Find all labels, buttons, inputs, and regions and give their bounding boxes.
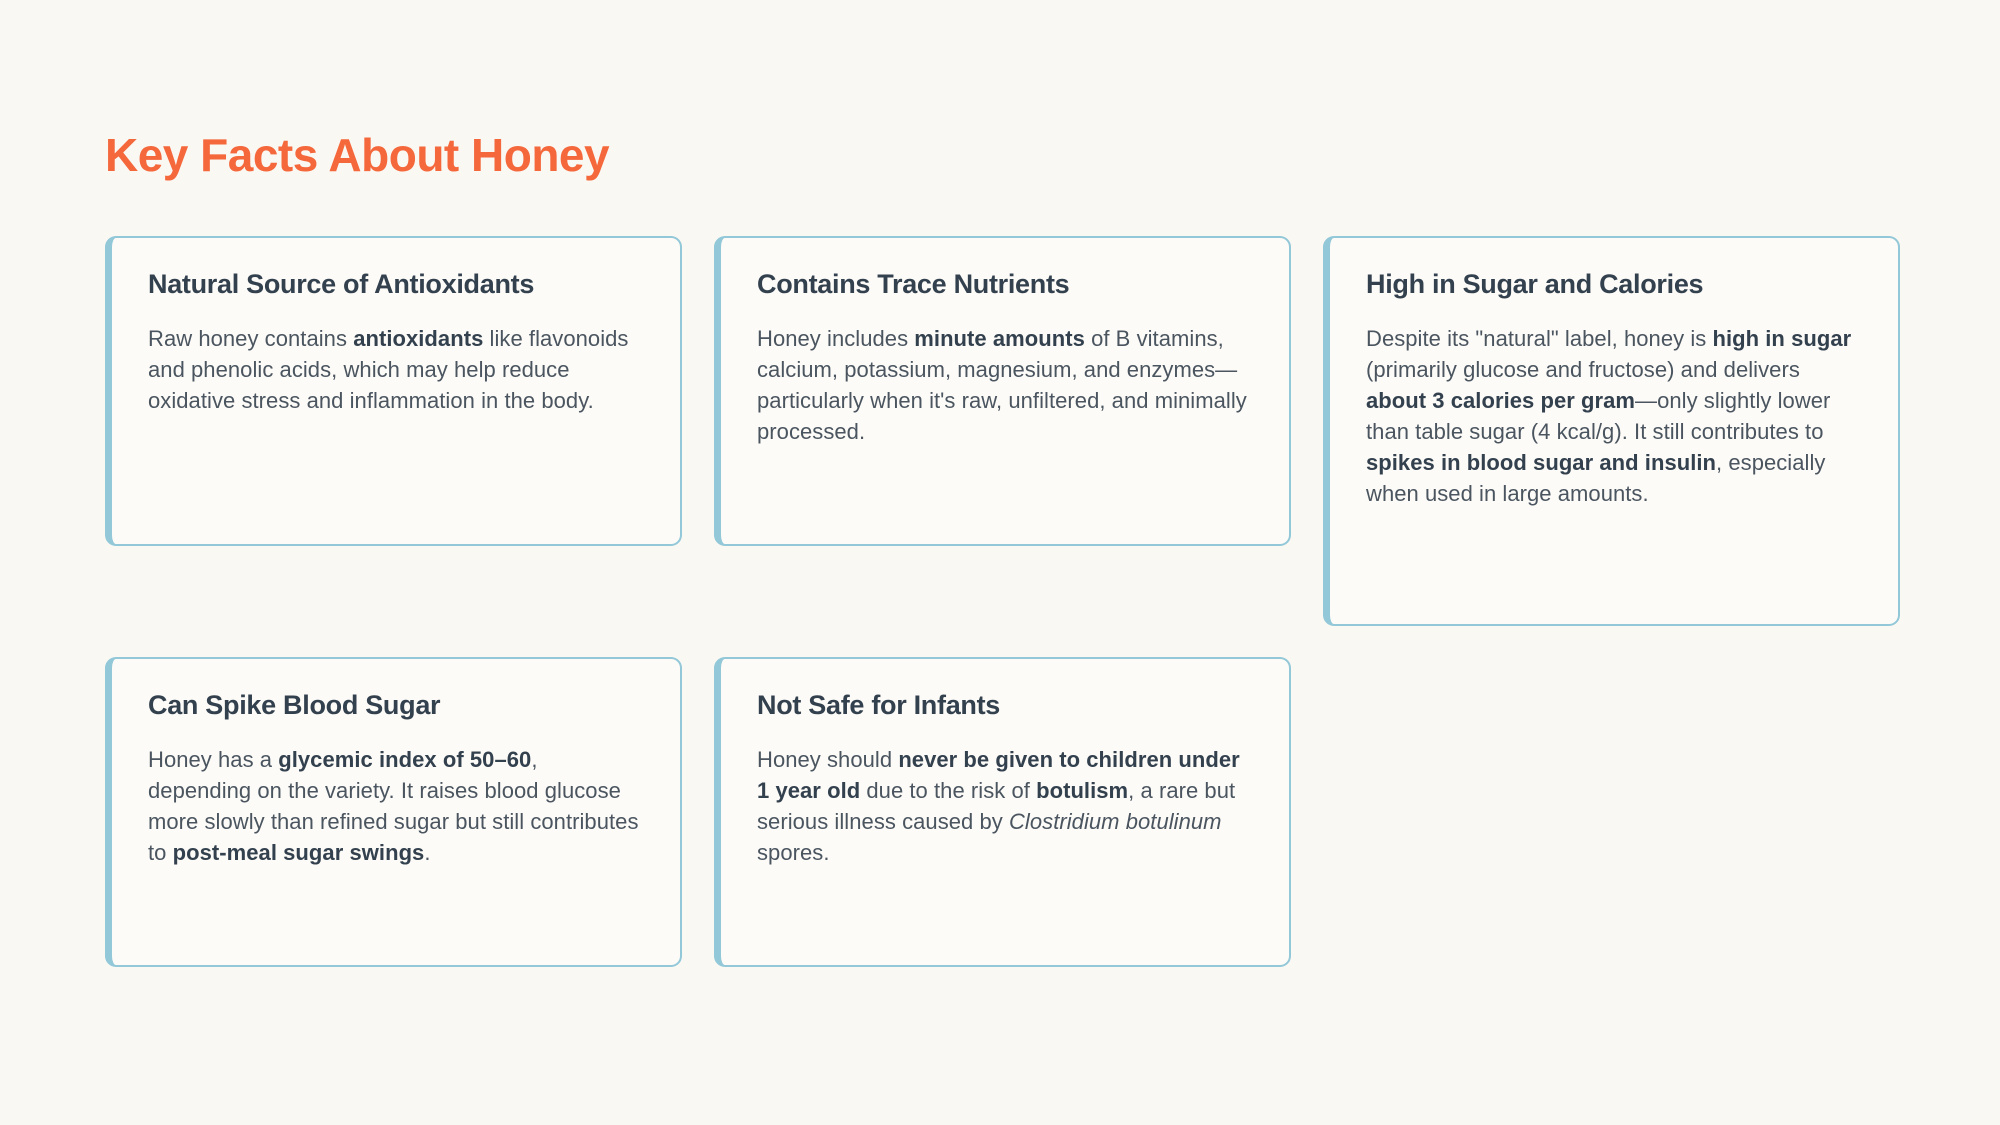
fact-card-contains-trace-nutrients: Contains Trace Nutrients Honey includes … — [714, 236, 1291, 546]
fact-card-title: Natural Source of Antioxidants — [148, 268, 644, 300]
fact-card-title: Can Spike Blood Sugar — [148, 689, 644, 721]
fact-card-title: Not Safe for Infants — [757, 689, 1253, 721]
fact-card-high-in-sugar-and-calories: High in Sugar and Calories Despite its "… — [1323, 236, 1900, 626]
fact-card-can-spike-blood-sugar: Can Spike Blood Sugar Honey has a glycem… — [105, 657, 682, 967]
fact-card-title: High in Sugar and Calories — [1366, 268, 1862, 300]
fact-card-not-safe-for-infants: Not Safe for Infants Honey should never … — [714, 657, 1291, 967]
fact-card-body: Raw honey contains antioxidants like fla… — [148, 323, 644, 416]
fact-card-body: Honey includes minute amounts of B vitam… — [757, 323, 1253, 447]
fact-card-title: Contains Trace Nutrients — [757, 268, 1253, 300]
fact-card-body: Honey should never be given to children … — [757, 744, 1253, 868]
fact-card-natural-source-of-antioxidants: Natural Source of Antioxidants Raw honey… — [105, 236, 682, 546]
honey-facts-page: Key Facts About Honey Natural Source of … — [0, 0, 2000, 1125]
fact-card-body: Honey has a glycemic index of 50–60, dep… — [148, 744, 644, 868]
facts-card-grid: Natural Source of Antioxidants Raw honey… — [105, 236, 1900, 967]
page-title: Key Facts About Honey — [105, 0, 2000, 182]
fact-card-body: Despite its "natural" label, honey is hi… — [1366, 323, 1862, 509]
